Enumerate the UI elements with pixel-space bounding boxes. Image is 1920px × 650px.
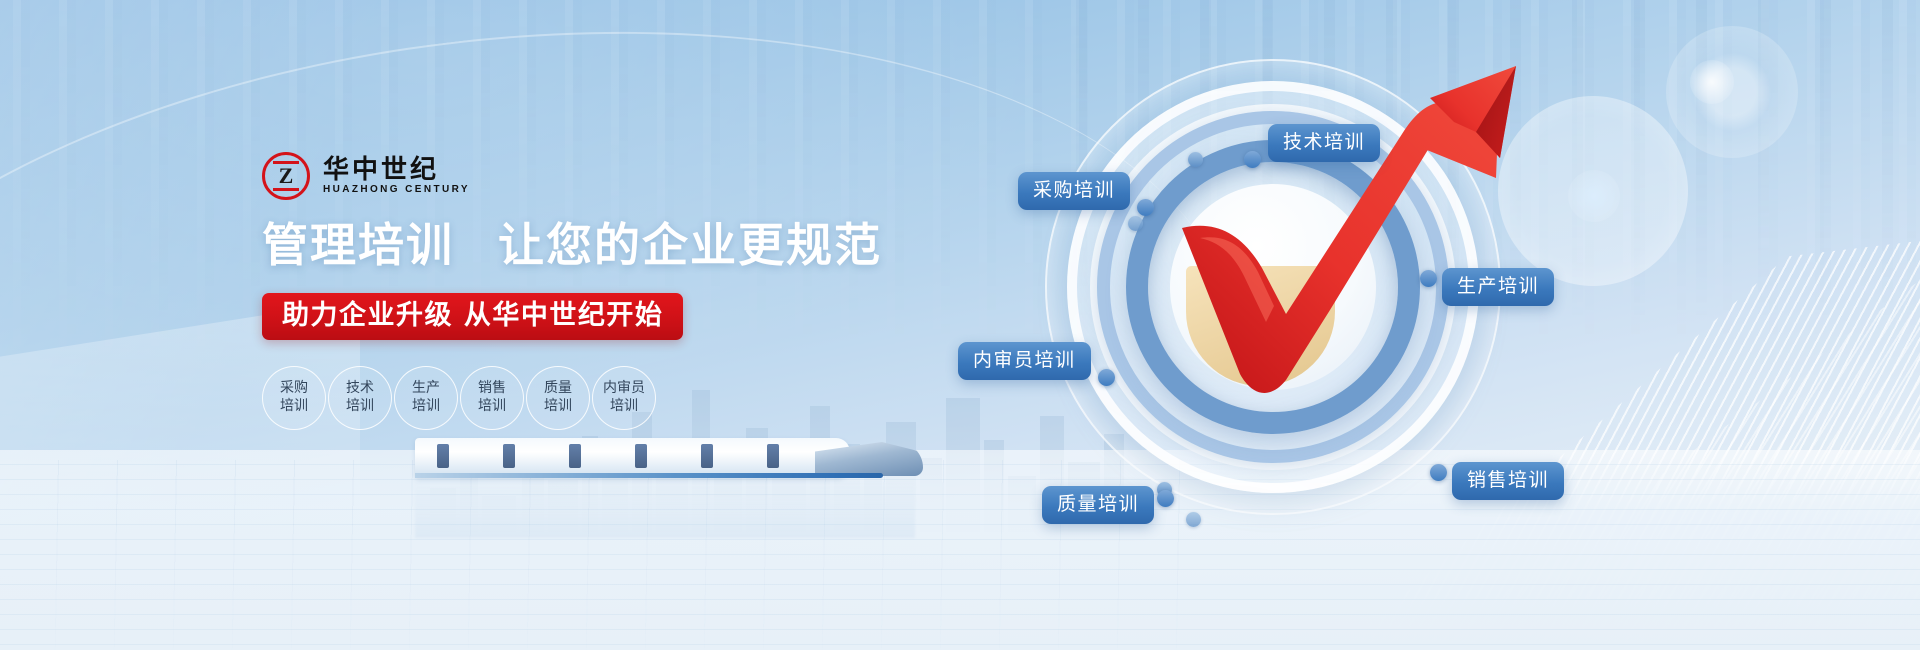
orbit-dot — [1186, 512, 1201, 527]
pill-caigou-peixun[interactable]: 采购培训 — [1018, 172, 1130, 210]
pill-zhiliang-peixun[interactable]: 质量培训 — [1042, 486, 1154, 524]
train-window — [437, 444, 449, 468]
logo-name-cn: 华中世纪 — [323, 157, 470, 183]
chip-line-1: 内审员 — [603, 380, 645, 398]
headline-secondary: 让您的企业更规范 — [498, 220, 882, 271]
high-speed-train-illustration — [415, 432, 915, 478]
logo-letter: Z — [265, 155, 307, 197]
training-chip-zhiliang[interactable]: 质量 培训 — [526, 366, 590, 430]
headline-primary: 管理培训 — [262, 220, 454, 271]
chip-line-2: 培训 — [544, 398, 572, 416]
chip-line-1: 销售 — [478, 380, 506, 398]
chip-line-1: 质量 — [544, 380, 572, 398]
train-reflection — [415, 478, 915, 538]
train-window — [635, 444, 647, 468]
training-chip-shengchan[interactable]: 生产 培训 — [394, 366, 458, 430]
training-chip-neishenyuan[interactable]: 内审员 培训 — [592, 366, 656, 430]
brand-logo[interactable]: Z 华中世纪 HUAZHONG CENTURY — [262, 152, 882, 200]
pill-jishu-peixun[interactable]: 技术培训 — [1268, 124, 1380, 162]
orbit-dot — [1188, 152, 1203, 167]
pill-neishenyuan-peixun[interactable]: 内审员培训 — [958, 342, 1091, 380]
target-rings-graphic — [1038, 52, 1508, 522]
training-chip-jishu[interactable]: 技术 培训 — [328, 366, 392, 430]
chip-line-1: 技术 — [346, 380, 374, 398]
chip-line-2: 培训 — [412, 398, 440, 416]
training-chip-xiaoshou[interactable]: 销售 培训 — [460, 366, 524, 430]
pill-xiaoshou-peixun[interactable]: 销售培训 — [1452, 462, 1564, 500]
chip-line-2: 培训 — [280, 398, 308, 416]
logo-emblem-icon: Z — [262, 152, 310, 200]
pill-shengchan-peixun[interactable]: 生产培训 — [1442, 268, 1554, 306]
train-window — [767, 444, 779, 468]
lens-flare-icon — [1690, 60, 1734, 104]
logo-name-en: HUAZHONG CENTURY — [323, 185, 470, 195]
train-window — [503, 444, 515, 468]
training-chip-caigou[interactable]: 采购 培训 — [262, 366, 326, 430]
chip-line-1: 采购 — [280, 380, 308, 398]
train-stripe — [415, 473, 883, 478]
bokeh-circle-icon — [1666, 26, 1798, 158]
train-body — [415, 438, 850, 478]
train-window — [569, 444, 581, 468]
chip-line-2: 培训 — [478, 398, 506, 416]
train-window — [701, 444, 713, 468]
training-chip-list: 采购 培训 技术 培训 生产 培训 销售 培训 质量 培训 内审员 培训 — [262, 366, 882, 430]
banner-content: Z 华中世纪 HUAZHONG CENTURY 管理培训 让您的企业更规范 助力… — [262, 152, 882, 430]
chip-line-2: 培训 — [346, 398, 374, 416]
chip-line-1: 生产 — [412, 380, 440, 398]
slogan-badge: 助力企业升级 从华中世纪开始 — [262, 293, 683, 340]
page-title: 管理培训 让您的企业更规范 — [262, 220, 882, 271]
chip-line-2: 培训 — [610, 398, 638, 416]
orbit-dot — [1128, 216, 1143, 231]
logo-wordmark: 华中世纪 HUAZHONG CENTURY — [323, 157, 470, 195]
promo-banner: Z 华中世纪 HUAZHONG CENTURY 管理培训 让您的企业更规范 助力… — [0, 0, 1920, 650]
